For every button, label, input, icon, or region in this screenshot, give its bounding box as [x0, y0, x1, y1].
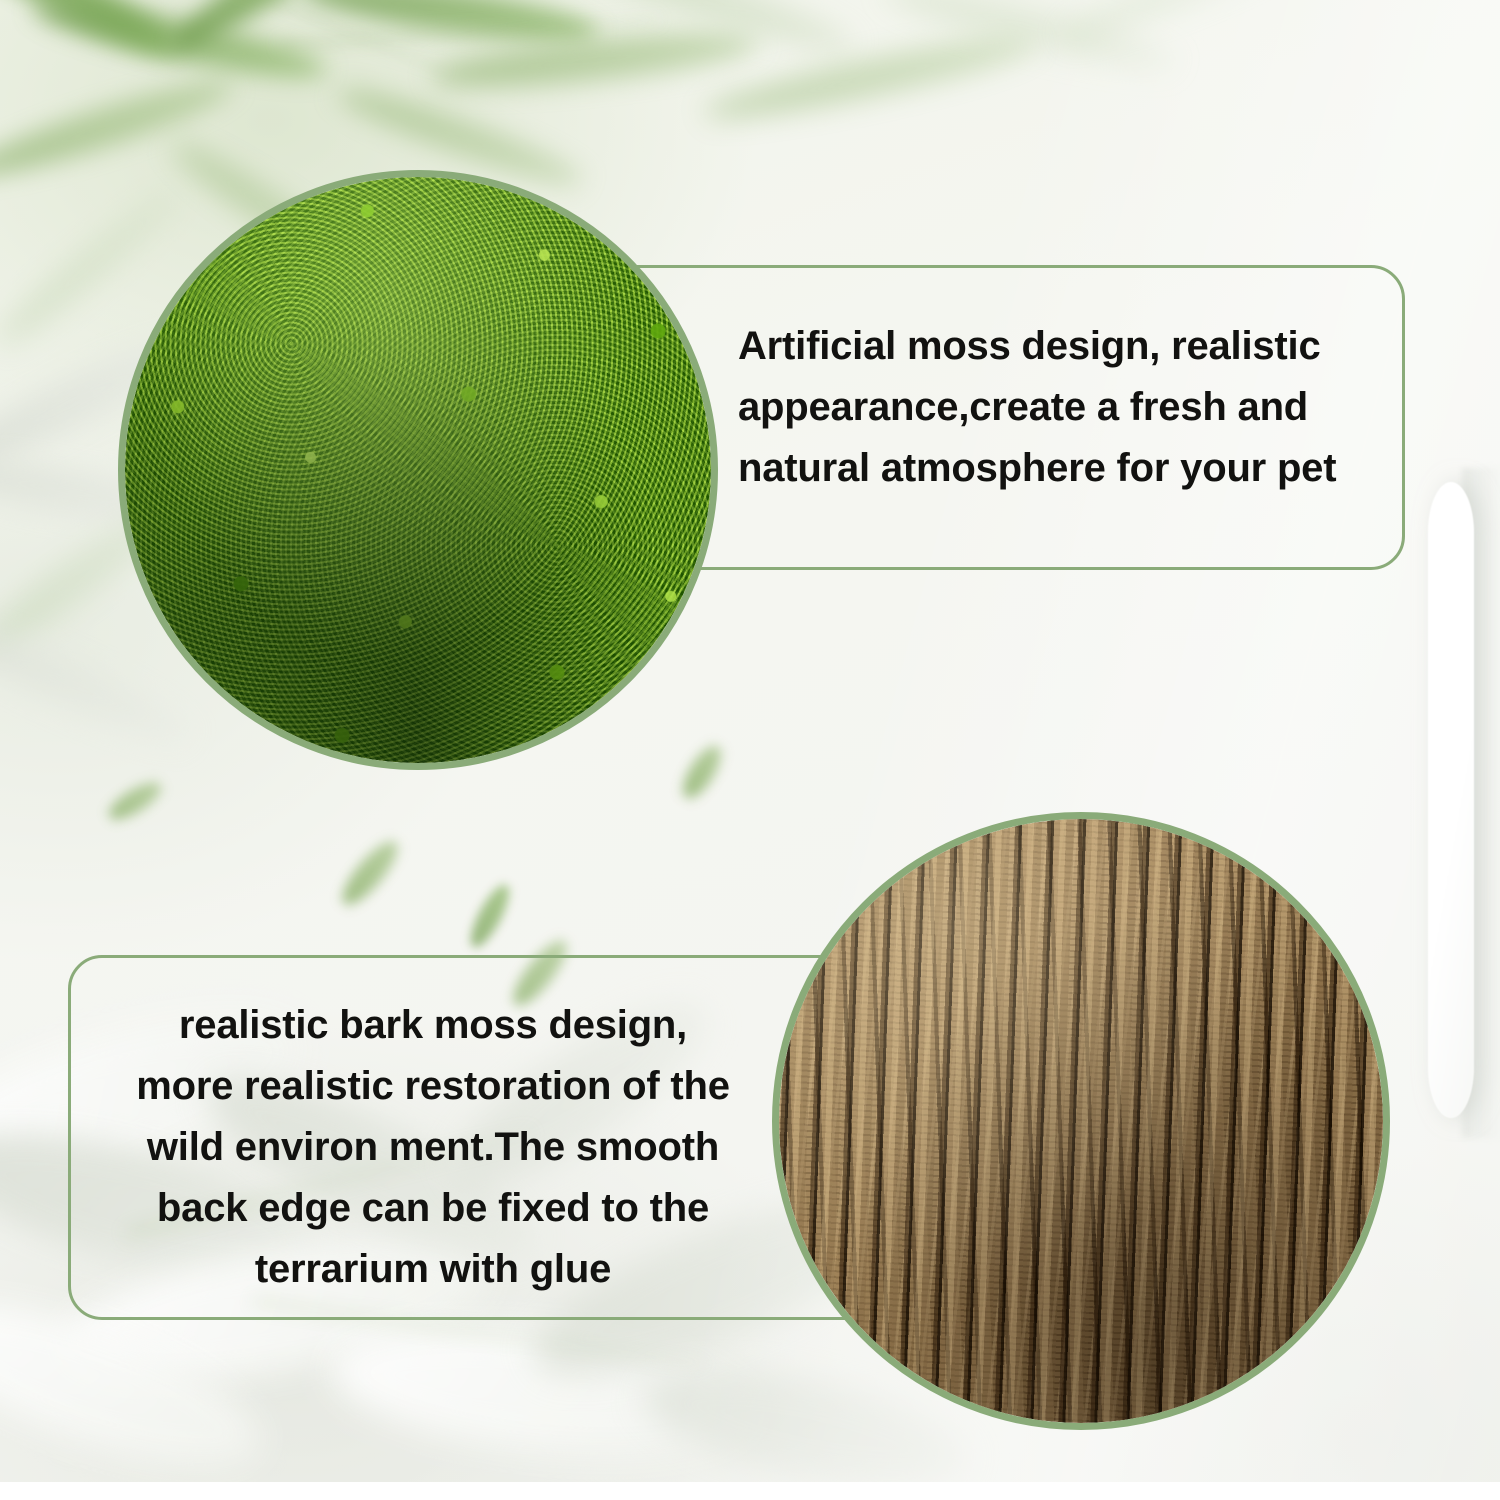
moss-text-line-1: Artificial moss design, realistic [738, 316, 1398, 377]
moss-text-line-3: natural atmosphere for your pet [738, 438, 1398, 499]
bark-callout-text: realistic bark moss design, more realist… [88, 995, 778, 1300]
right-white-leaf-accent [1428, 482, 1474, 1118]
moss-callout-text: Artificial moss design, realistic appear… [738, 316, 1398, 499]
infographic-canvas: Artificial moss design, realistic appear… [0, 0, 1500, 1500]
bark-text-line-2: more realistic restoration of the [88, 1056, 778, 1117]
bark-photo-circle [772, 812, 1390, 1430]
moss-text-line-2: appearance,create a fresh and [738, 377, 1398, 438]
bark-photo-inner [779, 819, 1383, 1423]
moss-photo-circle [118, 170, 718, 770]
moss-photo-inner [125, 177, 711, 763]
bottom-white-strip [0, 1482, 1500, 1500]
bark-text-line-4: back edge can be fixed to the [88, 1178, 778, 1239]
moss-shading [125, 177, 711, 763]
bark-text-line-5: terrarium with glue [88, 1239, 778, 1300]
bark-text-line-1: realistic bark moss design, [88, 995, 778, 1056]
bark-text-line-3: wild environ ment.The smooth [88, 1117, 778, 1178]
bark-shading [779, 819, 1383, 1423]
